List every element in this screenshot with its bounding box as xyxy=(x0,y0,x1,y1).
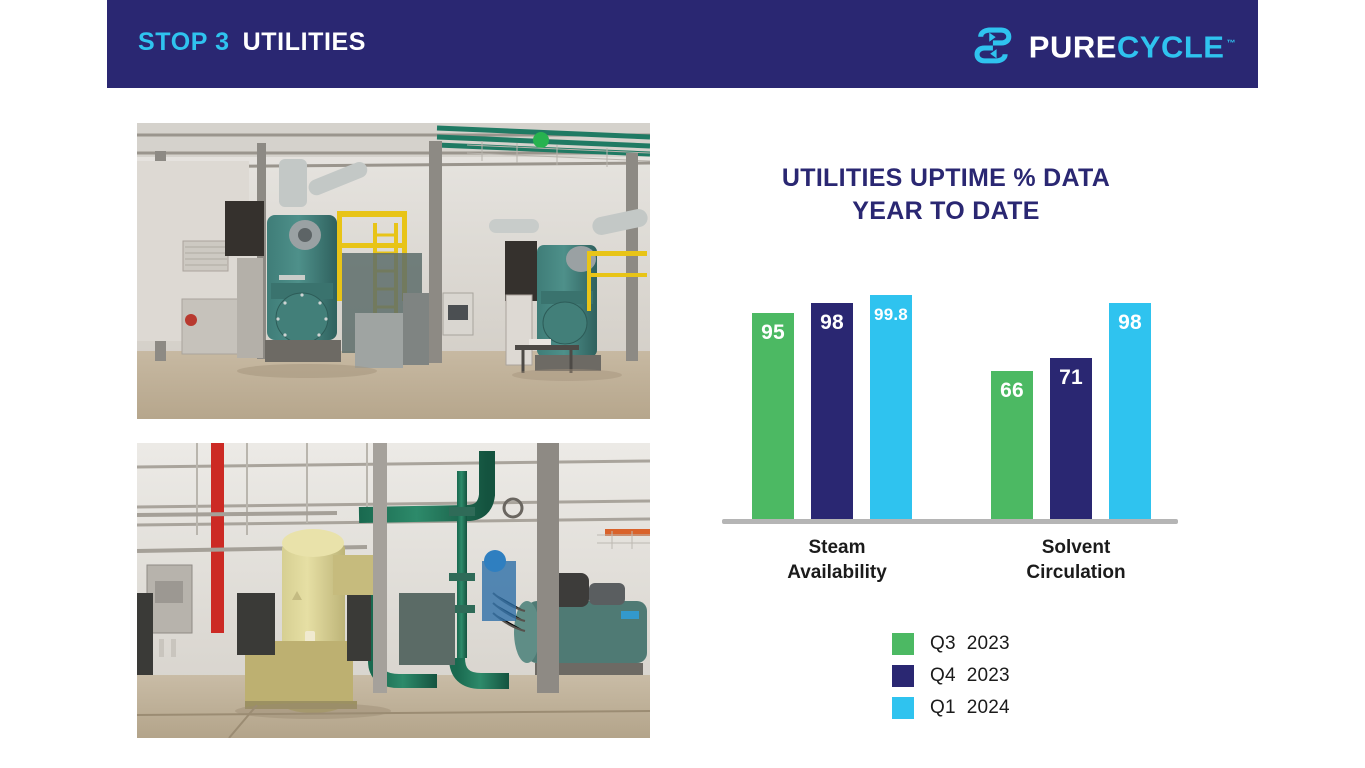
bar-value-label: 98 xyxy=(1118,312,1142,522)
chart-legend: Q3 2023 Q4 2023 Q1 2024 xyxy=(892,628,1010,724)
stop-number-label: STOP 3 xyxy=(138,28,230,56)
category-label-solvent: Solvent Circulation xyxy=(991,535,1161,585)
trademark-symbol: ™ xyxy=(1227,38,1237,48)
chart-category-labels: Steam Availability Solvent Circulation xyxy=(722,535,1192,595)
logo-word-cycle: CYCLE xyxy=(1117,29,1225,64)
uptime-bar-chart: UTILITIES UPTIME % DATA YEAR TO DATE 95 … xyxy=(660,100,1240,760)
bar-value-label: 71 xyxy=(1059,367,1083,522)
bar-solvent-q3[interactable]: 66 xyxy=(991,371,1033,522)
section-name-label: UTILITIES xyxy=(243,28,366,56)
legend-item-label: Q4 2023 xyxy=(930,665,1010,687)
chart-title-line-2: YEAR TO DATE xyxy=(660,195,1232,228)
legend-item-label: Q3 2023 xyxy=(930,633,1010,655)
bar-steam-q1[interactable]: 99.8 xyxy=(870,295,912,522)
header-bar: STOP 3UTILITIES PURECYCLE™ xyxy=(107,0,1258,88)
bar-solvent-q1[interactable]: 98 xyxy=(1109,303,1151,522)
chart-baseline xyxy=(722,519,1178,524)
chart-title: UTILITIES UPTIME % DATA YEAR TO DATE xyxy=(660,162,1232,228)
bar-value-label: 99.8 xyxy=(874,306,908,522)
category-label-line-1: Solvent xyxy=(991,535,1161,560)
chart-plot-area: 95 98 99.8 66 71 98 xyxy=(722,260,1240,522)
page-title: STOP 3UTILITIES xyxy=(138,28,366,57)
bar-value-label: 98 xyxy=(820,312,844,522)
category-label-line-1: Steam xyxy=(752,535,922,560)
legend-item-q3-2023[interactable]: Q3 2023 xyxy=(892,628,1010,660)
bar-value-label: 95 xyxy=(761,322,785,522)
legend-item-label: Q1 2024 xyxy=(930,697,1010,719)
legend-swatch-icon xyxy=(892,697,914,719)
legend-item-q1-2024[interactable]: Q1 2024 xyxy=(892,692,1010,724)
legend-swatch-icon xyxy=(892,665,914,687)
boiler-room-photo xyxy=(137,123,650,419)
recycle-arrows-icon xyxy=(969,22,1015,68)
compressor-room-photo xyxy=(137,443,650,738)
bar-steam-q3[interactable]: 95 xyxy=(752,313,794,522)
bar-solvent-q4[interactable]: 71 xyxy=(1050,358,1092,522)
legend-item-q4-2023[interactable]: Q4 2023 xyxy=(892,660,1010,692)
chart-title-line-1: UTILITIES UPTIME % DATA xyxy=(660,162,1232,195)
bar-value-label: 66 xyxy=(1000,380,1024,522)
purecycle-logo: PURECYCLE™ xyxy=(969,20,1236,70)
category-label-line-2: Availability xyxy=(752,560,922,585)
purecycle-wordmark: PURECYCLE™ xyxy=(1029,20,1236,70)
category-label-line-2: Circulation xyxy=(991,560,1161,585)
category-label-steam: Steam Availability xyxy=(752,535,922,585)
bar-steam-q4[interactable]: 98 xyxy=(811,303,853,522)
slide-canvas: STOP 3UTILITIES PURECYCLE™ xyxy=(0,0,1365,768)
legend-swatch-icon xyxy=(892,633,914,655)
logo-word-pure: PURE xyxy=(1029,29,1117,64)
